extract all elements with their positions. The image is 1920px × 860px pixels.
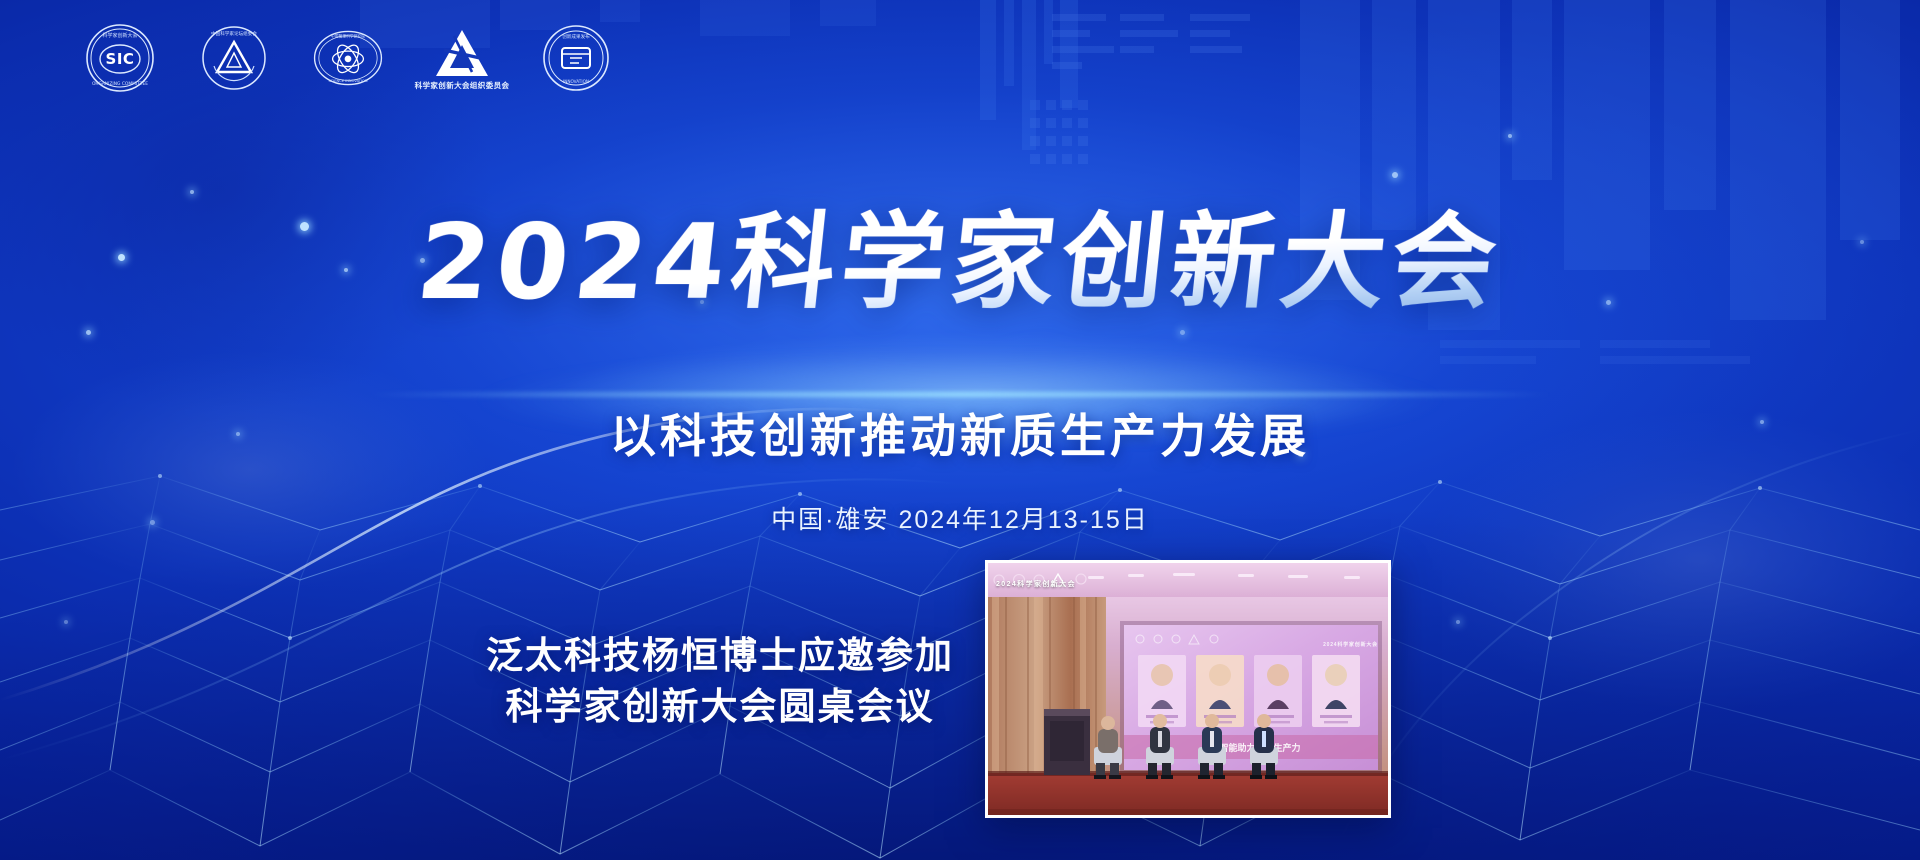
triangle-mark-wordmark: 科学家创新大会组织委员会	[415, 82, 510, 90]
event-meta-block: 中国·雄安 2024年12月13-15日	[0, 500, 1920, 536]
photo-banner-text: 2024科学家创新大会	[996, 579, 1076, 589]
horizon-line	[370, 392, 1550, 397]
main-title-block: 2024科学家创新大会	[0, 206, 1920, 318]
triangle-mark-emblem-icon: 科学家创新大会组织委员会	[426, 22, 498, 94]
svg-text:INNOVATION: INNOVATION	[563, 79, 589, 84]
event-location-date: 中国·雄安 2024年12月13-15日	[771, 500, 1149, 536]
svg-text:SCIENCE INNOVATION: SCIENCE INNOVATION	[328, 79, 367, 83]
svg-text:中国科学家论坛组委会: 中国科学家论坛组委会	[211, 30, 257, 37]
caption-block: 泛太科技杨恒博士应邀参加 科学家创新大会圆桌会议	[470, 630, 970, 732]
page-title: 2024科学家创新大会	[412, 206, 1507, 318]
subtitle-text: 以科技创新推动新质生产力发展	[610, 400, 1310, 466]
poster-canvas: SIC 科学家创新大会 ORGANIZING COMMITTEE 中国科学家论坛…	[0, 0, 1920, 860]
caption-line-2: 科学家创新大会圆桌会议	[470, 681, 970, 732]
svg-text:中国管理科学研究院: 中国管理科学研究院	[331, 33, 365, 38]
organizer-logo-row: SIC 科学家创新大会 ORGANIZING COMMITTEE 中国科学家论坛…	[84, 22, 612, 94]
svg-text:SIC: SIC	[106, 50, 135, 68]
svg-text:创新成果发布: 创新成果发布	[562, 33, 590, 40]
triangle-shield-emblem-icon: 中国科学家论坛组委会	[198, 22, 270, 94]
sic-emblem-icon: SIC 科学家创新大会 ORGANIZING COMMITTEE	[84, 22, 156, 94]
svg-text:科学家创新大会: 科学家创新大会	[102, 32, 137, 39]
photo-screen-text: 2024科学家创新大会	[1323, 641, 1378, 648]
caption-line-1: 泛太科技杨恒博士应邀参加	[470, 630, 970, 681]
circular-seal-emblem-icon: 创新成果发布 INNOVATION	[540, 22, 612, 94]
svg-text:ORGANIZING COMMITTEE: ORGANIZING COMMITTEE	[92, 81, 148, 87]
atom-oval-emblem-icon: 中国管理科学研究院 SCIENCE INNOVATION	[312, 22, 384, 94]
subtitle-block: 以科技创新推动新质生产力发展	[0, 400, 1920, 466]
event-photo: 人工智能助力新质生产力	[985, 560, 1391, 818]
